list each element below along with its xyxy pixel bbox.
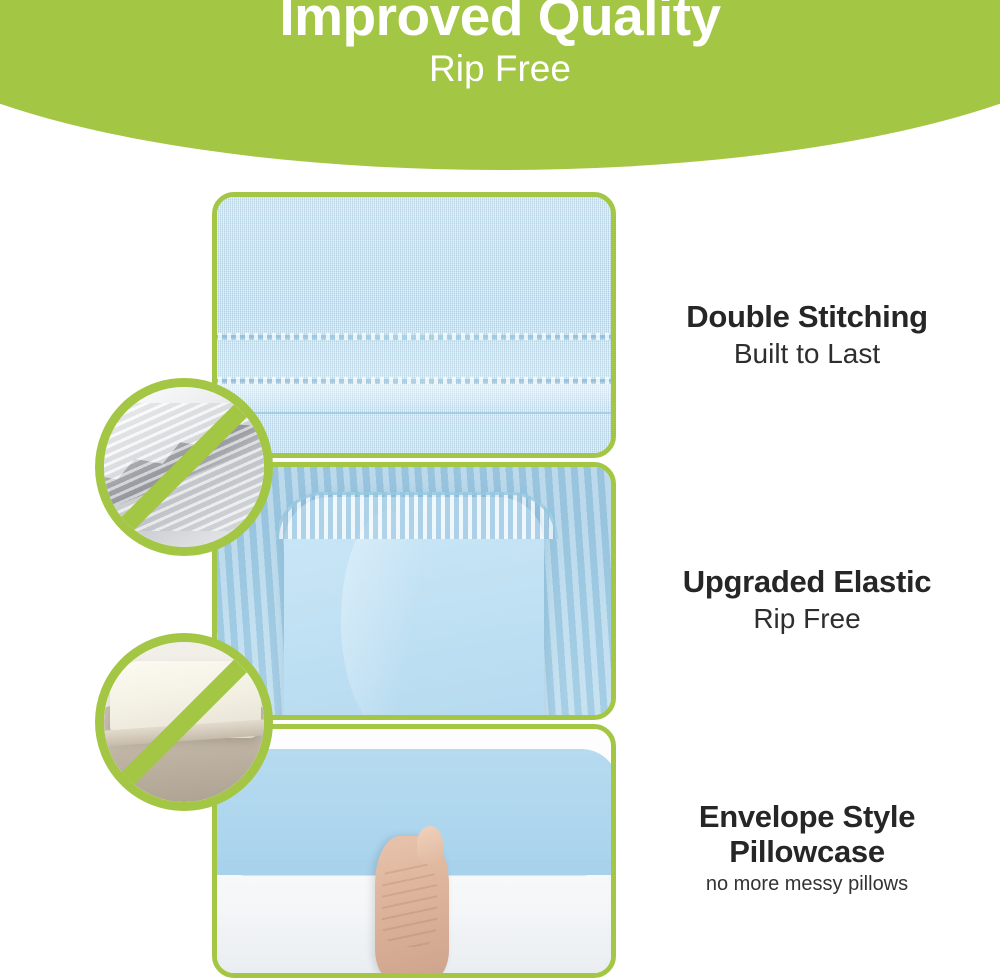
page-title: Improved Quality xyxy=(0,0,1000,46)
header-banner: Improved Quality Rip Free xyxy=(0,0,1000,170)
stitch-line-upper xyxy=(217,335,611,338)
feature-title-line2: Pillowcase xyxy=(626,835,988,870)
fabric-fold-line xyxy=(217,412,611,414)
feature-photo-envelope-pillowcase xyxy=(212,724,616,978)
feature-title: Upgraded Elastic xyxy=(626,565,988,600)
stitched-fabric-photo xyxy=(217,197,611,453)
fabric-texture xyxy=(217,197,611,453)
badge-no-ripping xyxy=(95,378,273,556)
feature-label-envelope-pillowcase: Envelope Style Pillowcase no more messy … xyxy=(626,800,988,896)
fabric-fold-band xyxy=(217,384,611,410)
hand-icon xyxy=(375,836,450,973)
feature-label-double-stitching: Double Stitching Built to Last xyxy=(626,300,988,370)
product-infographic: { "theme": { "green": "#a3c644", "fabric… xyxy=(0,0,1000,980)
page-subtitle: Rip Free xyxy=(0,48,1000,90)
elastic-edge xyxy=(276,492,558,540)
fitted-sheet-photo xyxy=(217,467,611,715)
pillowcase-photo xyxy=(217,729,611,973)
feature-title-line1: Envelope Style xyxy=(626,800,988,835)
stitch-line-lower xyxy=(217,379,611,382)
feature-subtitle: Rip Free xyxy=(626,602,988,636)
feature-label-upgraded-elastic: Upgraded Elastic Rip Free xyxy=(626,565,988,635)
badge-no-messy-pillows xyxy=(95,633,273,811)
feature-photo-upgraded-elastic xyxy=(212,462,616,720)
header-banner-content: Improved Quality Rip Free xyxy=(0,0,1000,170)
feature-subtitle: Built to Last xyxy=(626,337,988,371)
feature-photo-double-stitching xyxy=(212,192,616,458)
feature-note: no more messy pillows xyxy=(626,872,988,896)
feature-title: Double Stitching xyxy=(626,300,988,335)
